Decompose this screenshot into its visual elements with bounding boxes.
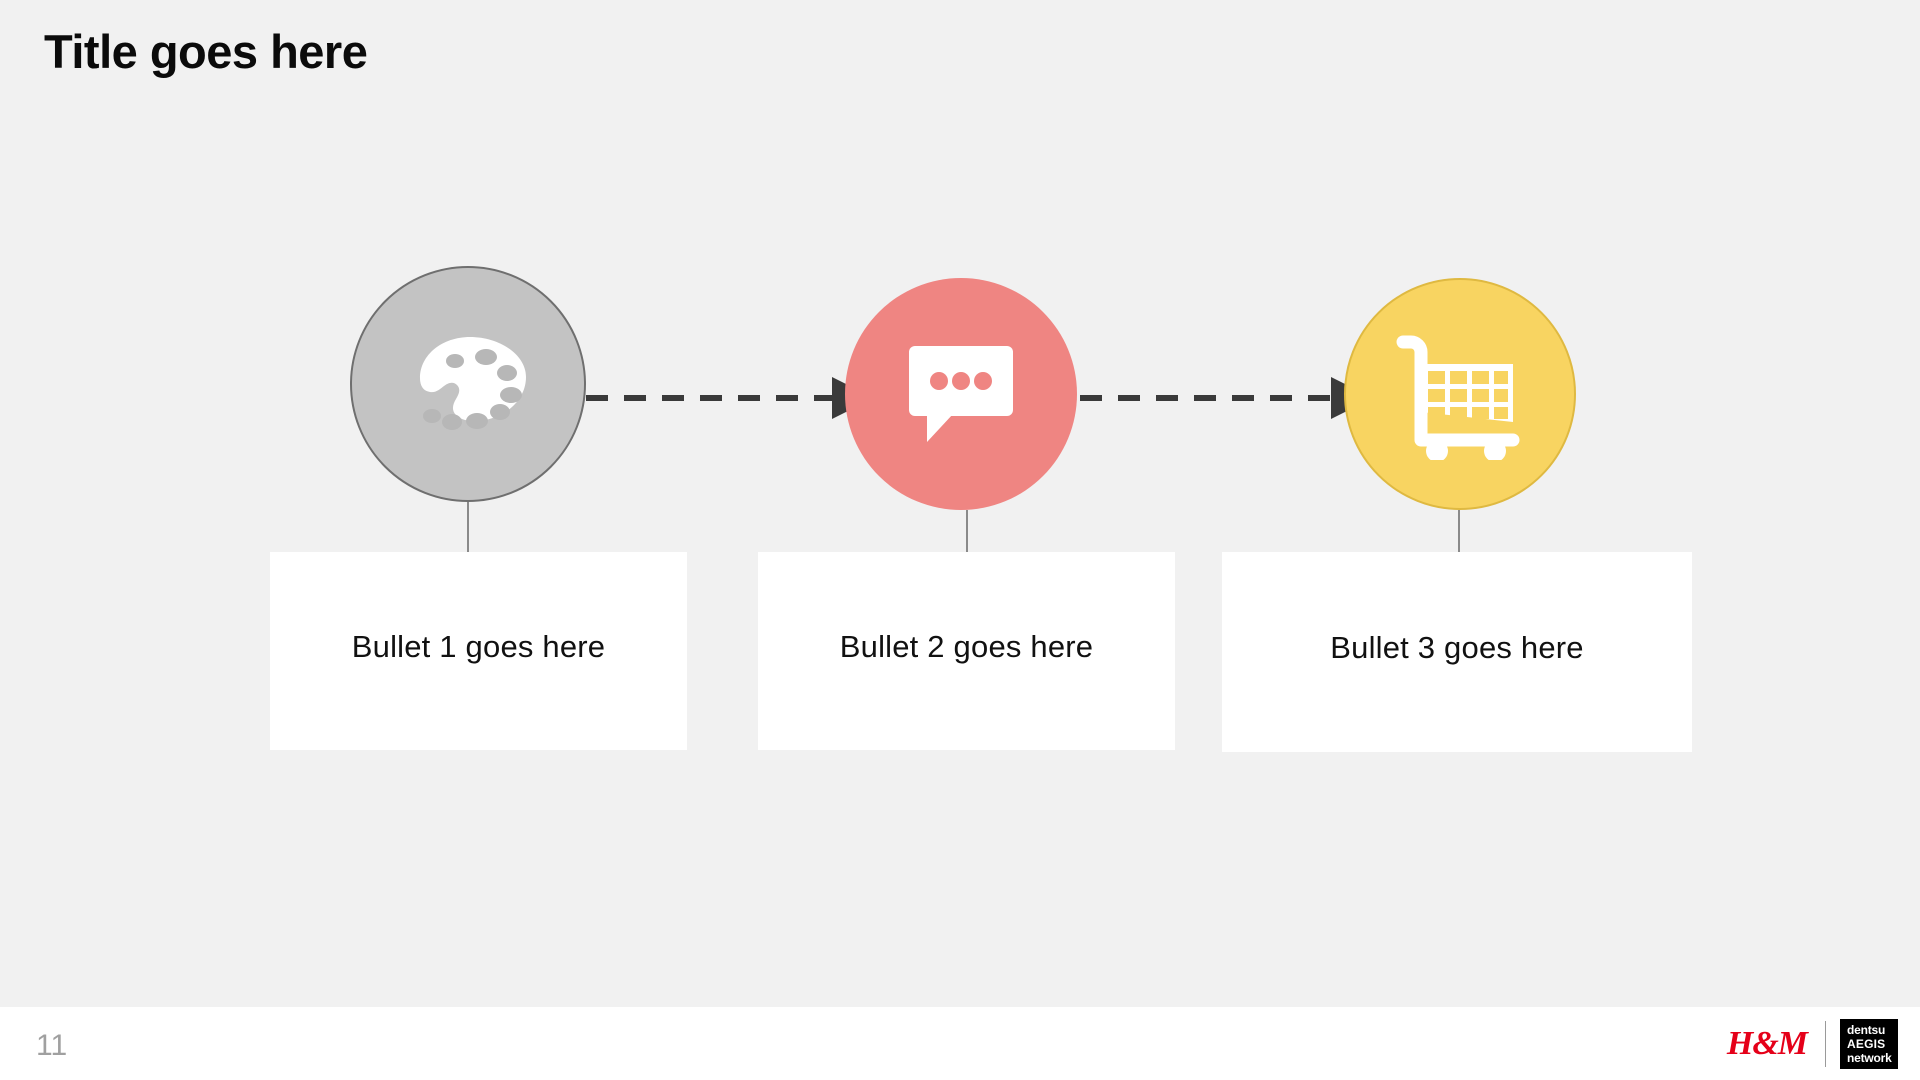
bullet-label-3: Bullet 3 goes here bbox=[1330, 630, 1584, 666]
shopping-cart-icon bbox=[1395, 328, 1525, 460]
logo-divider bbox=[1825, 1021, 1826, 1067]
dentsu-logo-line-3: network bbox=[1847, 1051, 1892, 1065]
bullet-box-3[interactable]: Bullet 3 goes here bbox=[1222, 552, 1692, 752]
slide-footer: 11 H&M dentsu AEGIS network bbox=[0, 1007, 1920, 1080]
bullet-box-1[interactable]: Bullet 1 goes here bbox=[270, 552, 687, 750]
palette-icon bbox=[408, 333, 528, 435]
connector-stem-1 bbox=[467, 502, 469, 552]
bullet-box-2[interactable]: Bullet 2 goes here bbox=[758, 552, 1175, 750]
connector-stem-2 bbox=[966, 510, 968, 553]
dentsu-aegis-network-logo: dentsu AEGIS network bbox=[1840, 1019, 1898, 1069]
footer-logos: H&M dentsu AEGIS network bbox=[1727, 1015, 1898, 1073]
flow-connectors bbox=[0, 0, 1920, 1080]
slide-canvas: Title goes here Bullet 1 goes here bbox=[0, 0, 1920, 1080]
connector-stem-3 bbox=[1458, 510, 1460, 553]
speech-bubble-icon bbox=[909, 346, 1013, 442]
bullet-label-2: Bullet 2 goes here bbox=[840, 629, 1094, 665]
dentsu-logo-line-2: AEGIS bbox=[1847, 1037, 1885, 1051]
hm-logo: H&M bbox=[1727, 1027, 1811, 1061]
page-number: 11 bbox=[36, 1029, 67, 1063]
bullet-label-1: Bullet 1 goes here bbox=[352, 629, 606, 665]
flow-node-1-circle[interactable] bbox=[350, 266, 586, 502]
page-title: Title goes here bbox=[44, 25, 367, 79]
flow-node-3-circle[interactable] bbox=[1344, 278, 1576, 510]
flow-node-2-circle[interactable] bbox=[845, 278, 1077, 510]
dentsu-logo-line-1: dentsu bbox=[1847, 1023, 1885, 1037]
